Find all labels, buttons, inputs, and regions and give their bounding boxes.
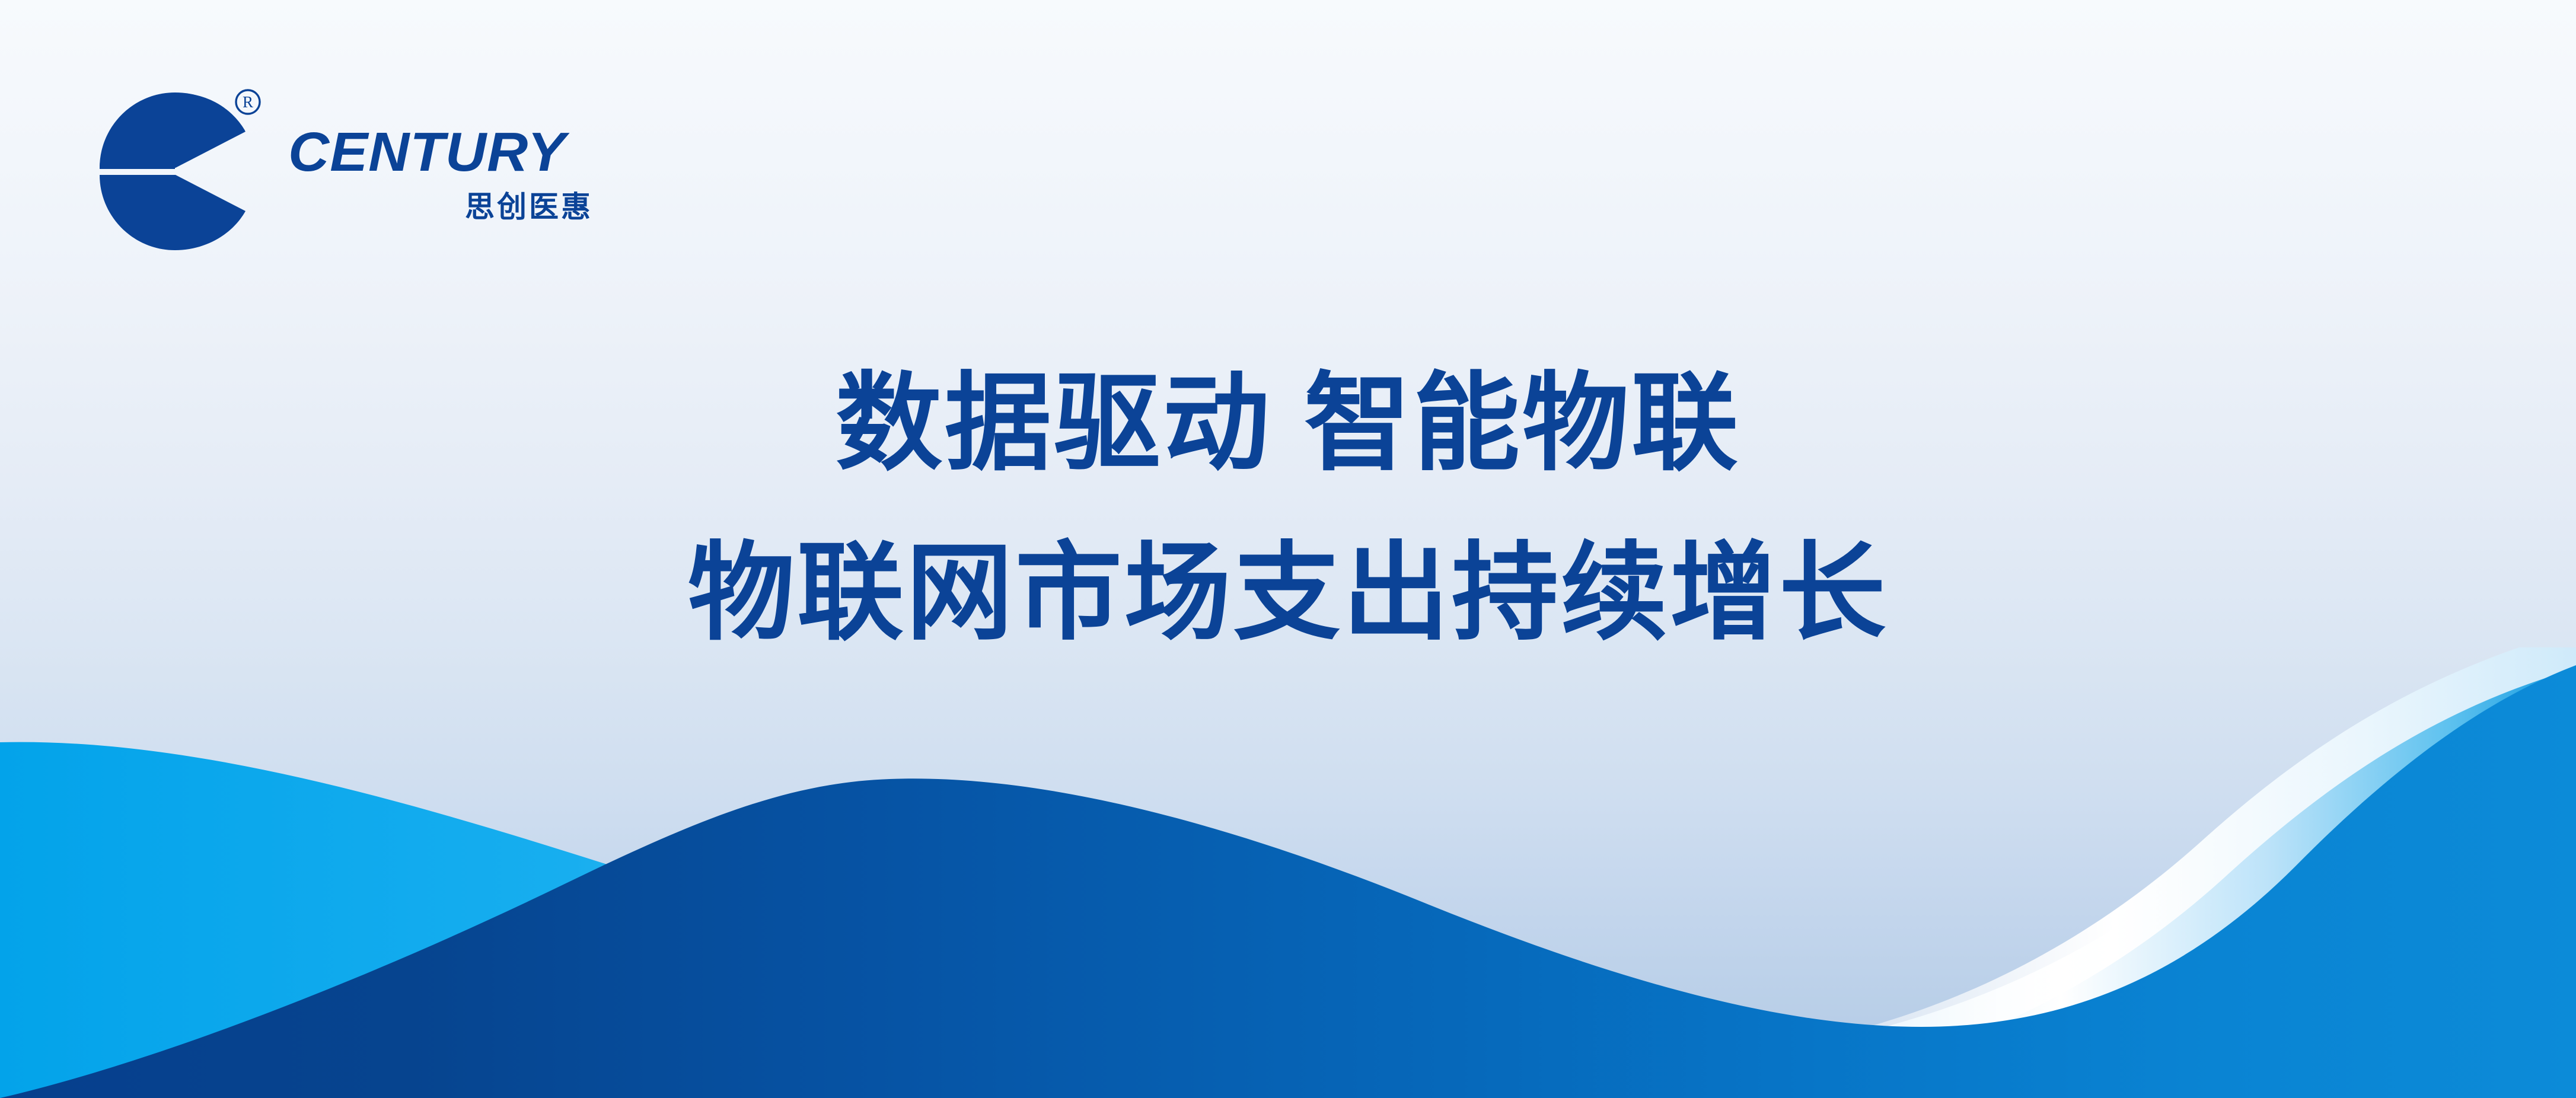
- wordmark-chinese: 思创医惠: [288, 183, 597, 226]
- wordmark-century: CENTURY: [288, 126, 606, 178]
- brand-logo[interactable]: R CENTURY 思创医惠: [95, 83, 605, 255]
- logo-text-wrapper: CENTURY 思创医惠: [288, 83, 597, 226]
- banner-root: R CENTURY 思创医惠 数据驱动 智能物联 物联网市场支出持续增长: [0, 0, 2576, 1098]
- headline-line-2: 物联网市场支出持续增长: [0, 537, 2576, 650]
- svg-text:R: R: [243, 93, 253, 111]
- registered-trademark-icon: R: [234, 88, 262, 116]
- logo-mark-wrapper: R: [95, 83, 273, 255]
- headline-block: 数据驱动 智能物联 物联网市场支出持续增长: [0, 368, 2576, 650]
- headline-line-1: 数据驱动 智能物联: [0, 368, 2576, 481]
- navy-wave: [0, 647, 2576, 1098]
